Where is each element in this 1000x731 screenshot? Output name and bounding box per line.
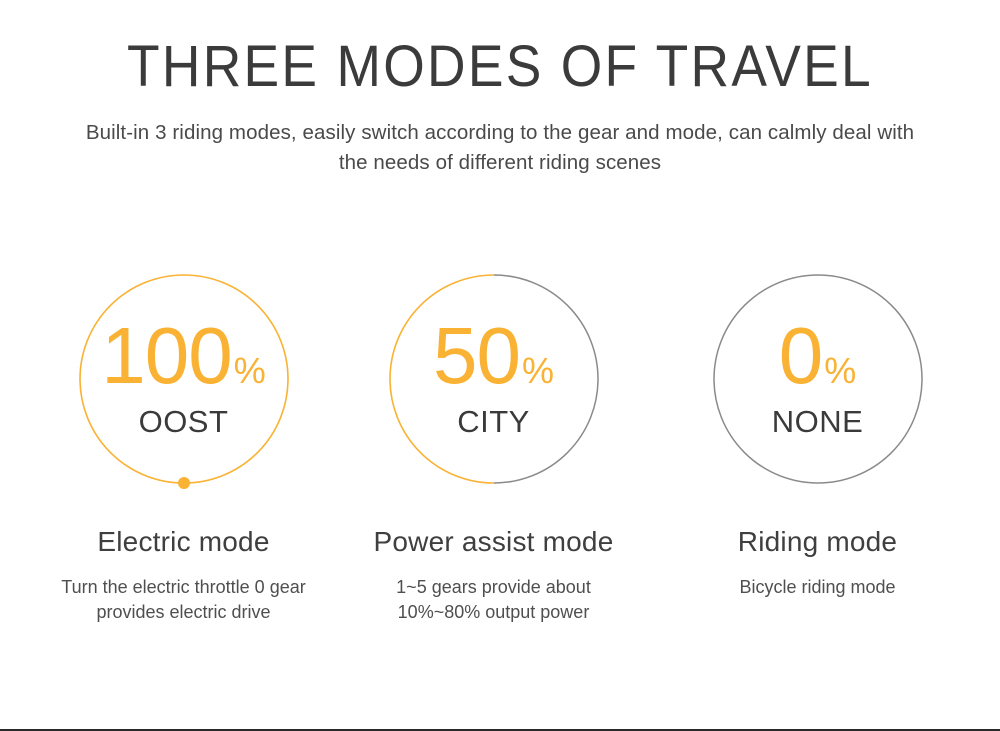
mode-title: Power assist mode (327, 525, 660, 559)
dial-content: 50 % CITY (386, 271, 602, 487)
dial-value-row: 50 % (433, 316, 554, 396)
dial-content: 100 % OOST (76, 271, 292, 487)
dial-value: 0 (779, 316, 823, 396)
mode-card-power-assist: 50 % CITY Power assist mode 1~5 gears pr… (327, 262, 660, 682)
mode-card-electric: 100 % OOST Electric mode Turn the electr… (17, 262, 350, 682)
dial-value: 100 (101, 316, 231, 396)
page-title: THREE MODES OF TRAVEL (40, 34, 960, 100)
mode-caption: Power assist mode 1~5 gears provide abou… (327, 525, 660, 625)
mode-caption: Electric mode Turn the electric throttle… (17, 525, 350, 625)
dial-inner-label: CITY (457, 405, 530, 439)
mode-description: Turn the electric throttle 0 gear provid… (50, 575, 318, 625)
dial-value-row: 0 % (779, 316, 857, 396)
mode-description: 1~5 gears provide about 10%~80% output p… (354, 575, 634, 625)
dial-inner-label: NONE (772, 405, 864, 439)
mode-title: Riding mode (651, 525, 984, 559)
dial-riding: 0 % NONE (710, 271, 926, 487)
dial-percent-symbol: % (522, 353, 554, 389)
mode-description: Bicycle riding mode (678, 575, 958, 600)
dial-value: 50 (433, 316, 520, 396)
dial-percent-symbol: % (824, 353, 856, 389)
infographic-page: THREE MODES OF TRAVEL Built-in 3 riding … (0, 0, 1000, 731)
dial-power-assist: 50 % CITY (386, 271, 602, 487)
dial-inner-label: OOST (139, 405, 229, 439)
dial-percent-symbol: % (234, 353, 266, 389)
dial-electric: 100 % OOST (76, 271, 292, 487)
mode-caption: Riding mode Bicycle riding mode (651, 525, 984, 600)
page-subtitle: Built-in 3 riding modes, easily switch a… (85, 118, 915, 178)
dial-content: 0 % NONE (710, 271, 926, 487)
mode-title: Electric mode (17, 525, 350, 559)
dial-value-row: 100 % (101, 316, 266, 396)
header: THREE MODES OF TRAVEL Built-in 3 riding … (0, 34, 1000, 178)
mode-card-riding: 0 % NONE Riding mode Bicycle riding mode (651, 262, 984, 682)
modes-row: 100 % OOST Electric mode Turn the electr… (0, 262, 1000, 682)
